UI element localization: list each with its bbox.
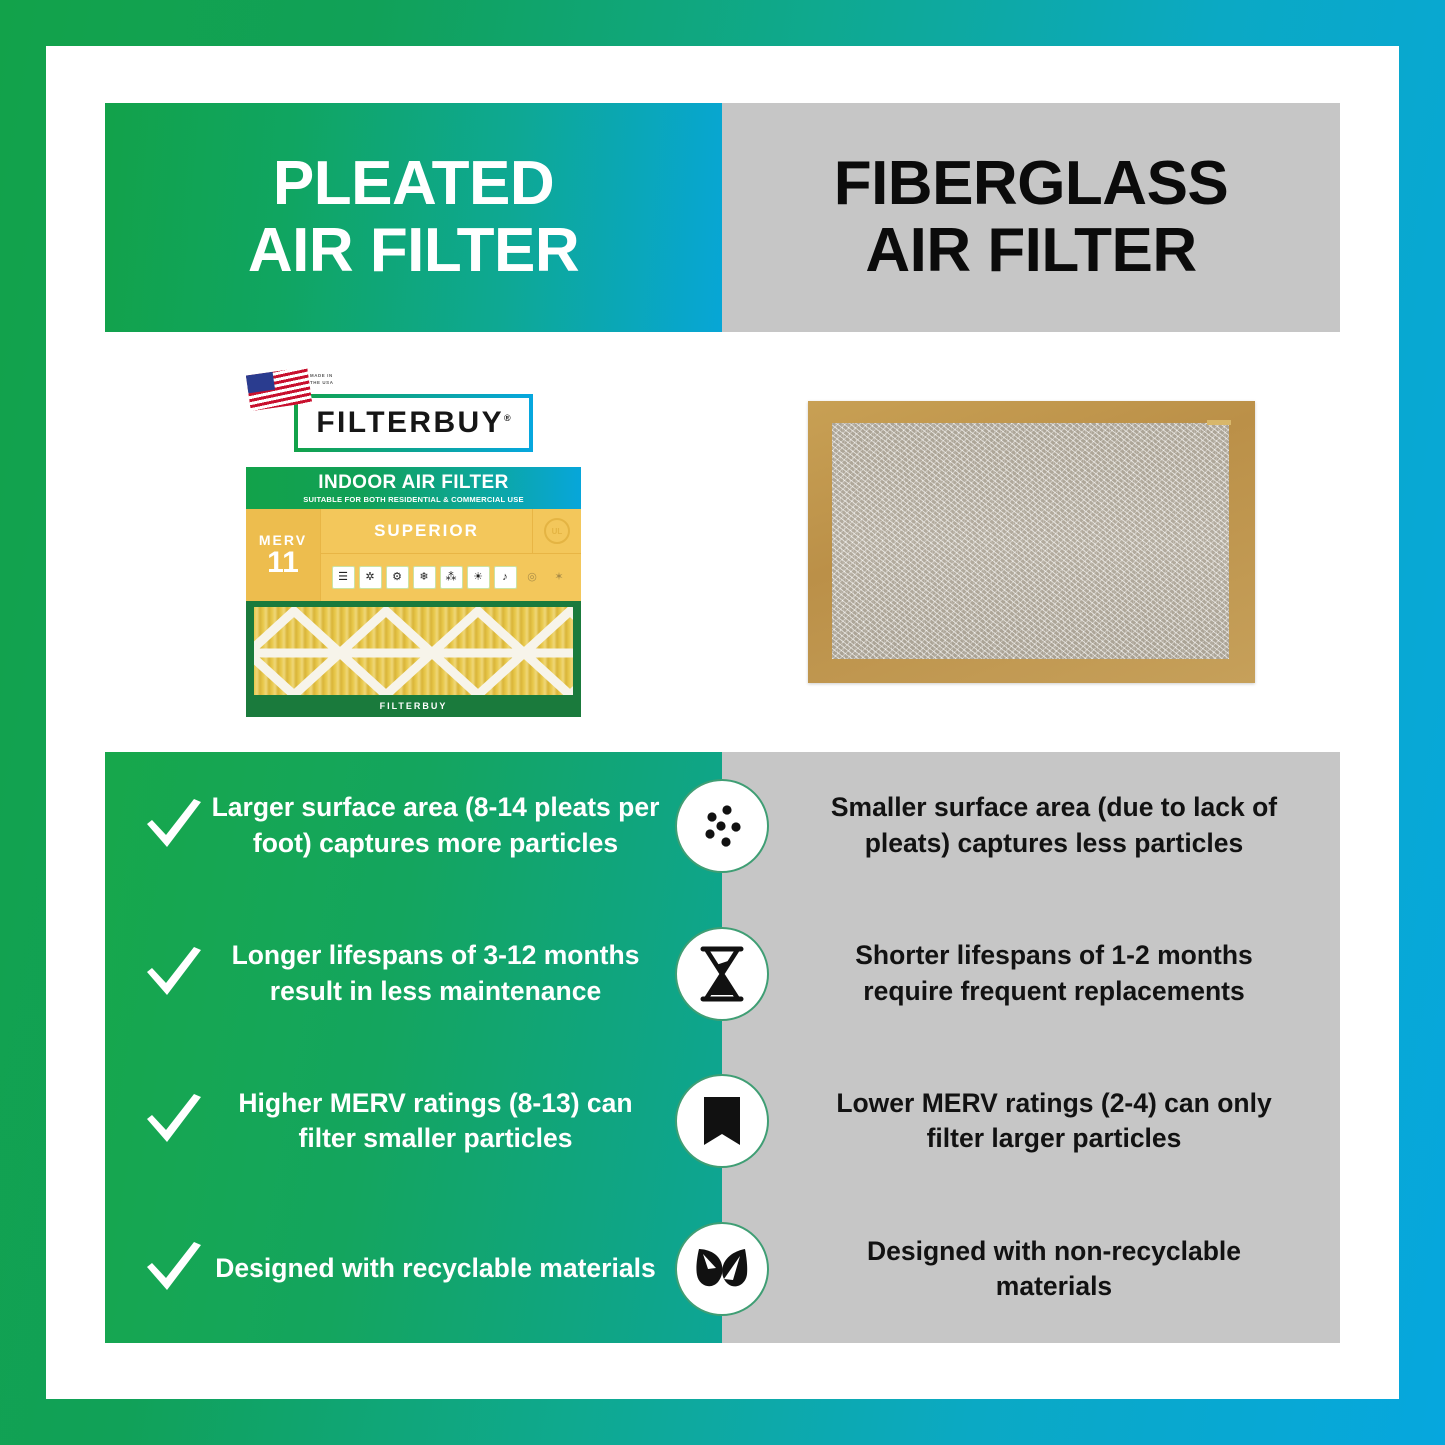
header-pleated: PLEATED AIR FILTER (105, 103, 722, 332)
comparison-rows: Larger surface area (8-14 pleats per foo… (105, 752, 1340, 1343)
row-left-text: Higher MERV ratings (8-13) can filter sm… (211, 1086, 660, 1157)
box-top-section: MADE IN THE USA FILTERBUY® (246, 367, 581, 467)
box-grade-row: SUPERIOR UL (321, 509, 581, 554)
comparison-row: Larger surface area (8-14 pleats per foo… (105, 752, 1340, 900)
trademark-symbol: ® (504, 413, 511, 423)
ul-mark-text: UL (544, 518, 570, 544)
row-left-text: Larger surface area (8-14 pleats per foo… (211, 790, 660, 861)
box-pleat-media: FILTERBUY (246, 601, 581, 717)
comparison-row: Higher MERV ratings (8-13) can filter sm… (105, 1048, 1340, 1196)
box-grade-label: SUPERIOR (321, 521, 532, 541)
frame-seam (1207, 420, 1231, 425)
infographic-content: PLEATED AIR FILTER FIBERGLASS AIR FILTER… (105, 103, 1340, 1343)
row-right-text: Lower MERV ratings (2-4) can only filter… (808, 1086, 1300, 1157)
ul-listed-mark: UL (532, 509, 581, 553)
box-merv-section: MERV 11 SUPERIOR UL ☰ (246, 509, 581, 601)
filterbuy-logo: FILTERBUY® (294, 394, 532, 452)
comparison-row: Longer lifespans of 3-12 months result i… (105, 900, 1340, 1048)
pleat-texture (254, 607, 573, 699)
row-left-cell: Longer lifespans of 3-12 months result i… (105, 938, 722, 1009)
pet-dander-icon: ☀ (467, 566, 490, 589)
header-pleated-title: PLEATED AIR FILTER (248, 151, 579, 285)
filterbuy-box-image: MADE IN THE USA FILTERBUY® INDOOR AIR FI… (246, 367, 581, 717)
pleat-support-mesh (254, 607, 573, 699)
checkmark-icon (141, 945, 207, 1003)
box-grade-section: SUPERIOR UL ☰ ✲ ⚙ ❄ ⁂ (321, 509, 581, 601)
dust-icon: ☰ (332, 566, 355, 589)
dust-mite-icon: ✲ (359, 566, 382, 589)
header-band: PLEATED AIR FILTER FIBERGLASS AIR FILTER (105, 103, 1340, 332)
fiberglass-filter-image (808, 401, 1255, 683)
row-right-text: Designed with non-recyclable materials (808, 1234, 1300, 1305)
row-left-cell: Higher MERV ratings (8-13) can filter sm… (105, 1086, 722, 1157)
box-band-title: INDOOR AIR FILTER (318, 472, 508, 494)
product-images-row: MADE IN THE USA FILTERBUY® INDOOR AIR FI… (105, 332, 1340, 752)
row-right-text: Shorter lifespans of 1-2 months require … (808, 938, 1300, 1009)
checkmark-icon (141, 1092, 207, 1150)
bacteria-icon: ⁂ (440, 566, 463, 589)
row-right-cell: Shorter lifespans of 1-2 months require … (722, 938, 1340, 1009)
row-left-text: Designed with recyclable materials (211, 1251, 660, 1287)
row-left-cell: Larger surface area (8-14 pleats per foo… (105, 790, 722, 861)
row-left-cell: Designed with recyclable materials (105, 1240, 722, 1298)
row-right-cell: Smaller surface area (due to lack of ple… (722, 790, 1340, 861)
row-right-text: Smaller surface area (due to lack of ple… (808, 790, 1300, 861)
row-right-cell: Lower MERV ratings (2-4) can only filter… (722, 1086, 1340, 1157)
pollen-icon: ❄ (413, 566, 436, 589)
capsule-icon-faded: ◎ (521, 566, 544, 589)
box-indoor-band: INDOOR AIR FILTER SUITABLE FOR BOTH RESI… (246, 467, 581, 509)
particles-icon (675, 779, 769, 873)
comparison-row: Designed with recyclable materials Desig… (105, 1195, 1340, 1343)
smoke-icon: ♪ (494, 566, 517, 589)
comparison-infographic: PLEATED AIR FILTER FIBERGLASS AIR FILTER… (0, 0, 1445, 1445)
header-fiberglass-title: FIBERGLASS AIR FILTER (834, 151, 1229, 285)
merv-value: 11 (267, 548, 299, 578)
header-fiberglass: FIBERGLASS AIR FILTER (722, 103, 1340, 332)
hourglass-icon (675, 927, 769, 1021)
pleated-product-cell: MADE IN THE USA FILTERBUY® INDOOR AIR FI… (105, 332, 722, 752)
virus-icon-faded: ✶ (548, 566, 571, 589)
row-right-cell: Designed with non-recyclable materials (722, 1234, 1340, 1305)
box-feature-icon-row: ☰ ✲ ⚙ ❄ ⁂ ☀ ♪ ◎ ✶ (321, 554, 581, 601)
fiberglass-product-cell (722, 332, 1340, 752)
mold-spore-icon: ⚙ (386, 566, 409, 589)
box-footer-brand: FILTERBUY (246, 695, 581, 717)
fiberglass-media-texture (832, 423, 1229, 659)
leaf-icon (675, 1222, 769, 1316)
checkmark-icon (141, 1240, 207, 1298)
row-left-text: Longer lifespans of 3-12 months result i… (211, 938, 660, 1009)
filterbuy-logo-text: FILTERBUY (316, 406, 504, 439)
checkmark-icon (141, 797, 207, 855)
box-band-subtitle: SUITABLE FOR BOTH RESIDENTIAL & COMMERCI… (303, 495, 524, 504)
comparison-section: Larger surface area (8-14 pleats per foo… (105, 752, 1340, 1343)
bookmark-icon (675, 1074, 769, 1168)
merv-badge: MERV 11 (246, 509, 321, 601)
made-in-usa-label: MADE IN THE USA (310, 373, 333, 386)
